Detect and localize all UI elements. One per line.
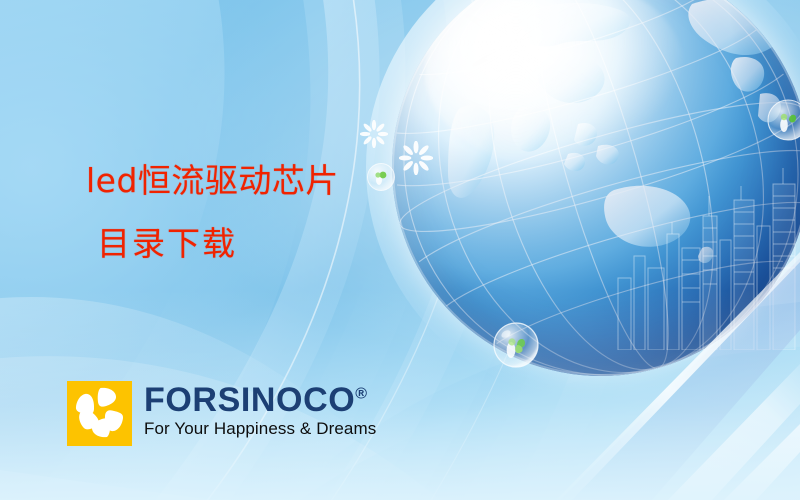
banner: led恒流驱动芯片 目录下载 FORSINOC — [0, 0, 800, 500]
headline: led恒流驱动芯片 目录下载 — [86, 164, 339, 260]
bubble-with-pinwheel-icon — [766, 98, 800, 142]
brand-word: FORSINOCO — [144, 381, 355, 419]
bubble-with-pinwheel-icon — [366, 162, 396, 192]
starburst-flower-icon — [399, 141, 433, 175]
forsinoco-pinwheel-mark-icon — [67, 381, 132, 446]
headline-line-1: led恒流驱动芯片 — [86, 164, 339, 197]
headline-line-2: 目录下载 — [97, 227, 339, 260]
brand-name: FORSINOCO® — [144, 383, 376, 417]
brand-tagline: For Your Happiness & Dreams — [144, 420, 376, 439]
logo-text-block: FORSINOCO® For Your Happiness & Dreams — [144, 381, 376, 439]
company-logo: FORSINOCO® For Your Happiness & Dreams — [67, 381, 376, 446]
starburst-flower-icon — [360, 120, 388, 148]
registered-trademark-symbol: ® — [355, 386, 367, 403]
